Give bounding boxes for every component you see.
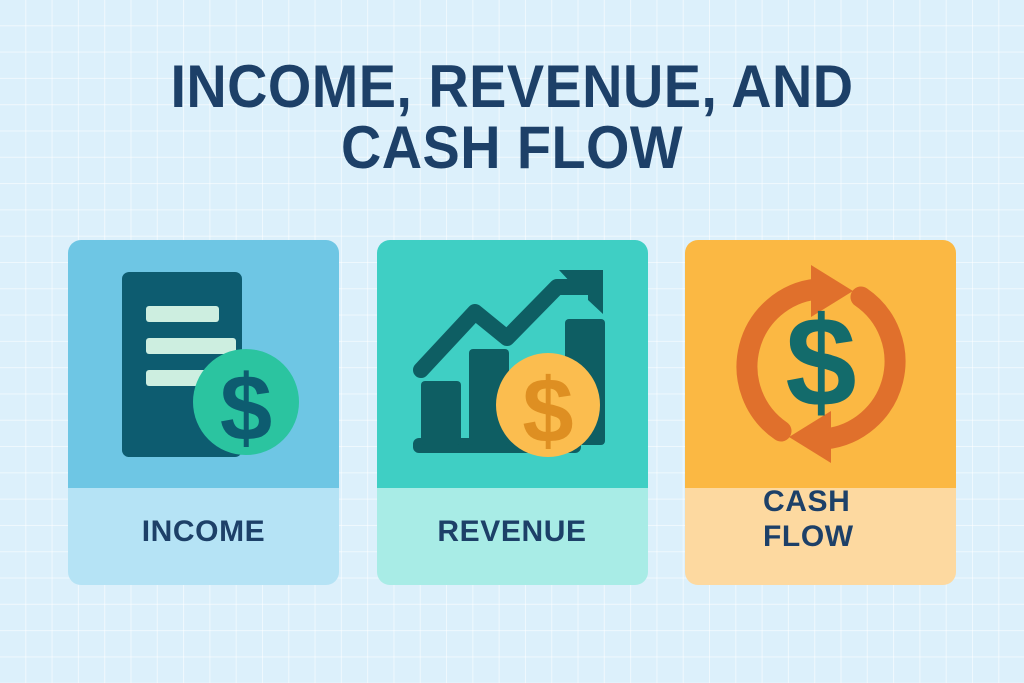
card-cash-flow-label: CASH FLOW	[763, 484, 854, 554]
card-income-art: $	[68, 240, 339, 488]
card-revenue-art: $	[377, 240, 648, 488]
dollar-symbol-icon: $	[219, 355, 271, 460]
dollar-symbol-icon: $	[522, 360, 573, 462]
card-cash-flow[interactable]: $ CASH FLOW	[685, 240, 956, 585]
card-cash-flow-art: $	[685, 240, 956, 488]
growth-bar-chart-with-dollar-coin-icon: $	[407, 262, 617, 467]
circular-cash-flow-arrows-with-dollar-icon: $	[721, 259, 921, 469]
cards-row: $ INCOME	[68, 240, 956, 585]
dollar-symbol-icon: $	[785, 291, 856, 434]
chart-bar-1-icon	[421, 381, 461, 445]
infographic-page: INCOME, REVENUE, AND CASH FLOW $ INCOME	[0, 0, 1024, 683]
card-income-label: INCOME	[68, 514, 339, 549]
card-cash-flow-footer: CASH FLOW	[685, 488, 956, 585]
card-revenue[interactable]: $ REVENUE	[377, 240, 648, 585]
card-revenue-label: REVENUE	[377, 514, 648, 549]
card-revenue-footer: REVENUE	[377, 488, 648, 585]
card-income[interactable]: $ INCOME	[68, 240, 339, 585]
document-line-1-icon	[146, 306, 219, 322]
document-with-dollar-coin-icon: $	[104, 264, 304, 464]
document-line-2-icon	[146, 338, 236, 354]
card-income-footer: INCOME	[68, 488, 339, 585]
page-title: INCOME, REVENUE, AND CASH FLOW	[36, 56, 988, 178]
